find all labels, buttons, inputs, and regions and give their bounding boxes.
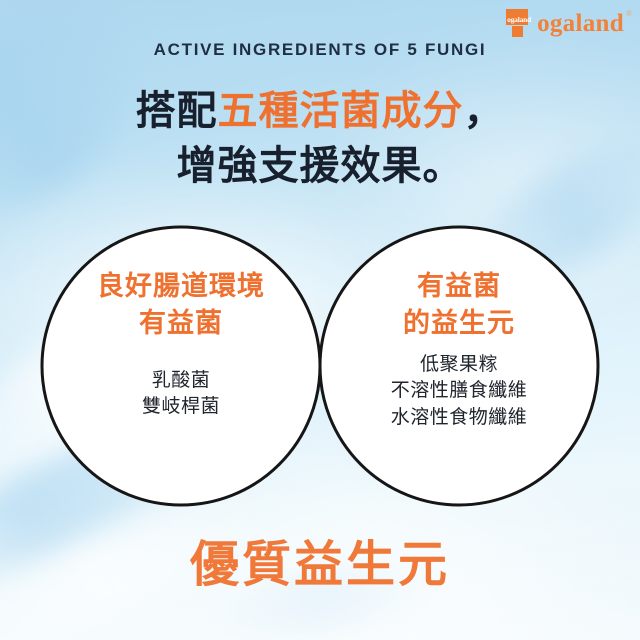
venn-right-body: 低聚果糘 不溶性膳食纖維 水溶性食物纖維 [320,351,598,432]
venn-right-title: 有益菌 的益生元 [320,268,598,343]
venn-right-title-line-1: 有益菌 [320,268,598,305]
infographic-canvas: ogaland ogaland ® ACTIVE INGREDIENTS OF … [0,0,640,640]
footer-headline: 優質益生元 [0,540,640,589]
venn-right-body-line-1: 低聚果糘 [320,351,598,378]
venn-right-title-line-2: 的益生元 [320,305,598,342]
venn-right-body-line-3: 水溶性食物纖維 [320,404,598,431]
venn-left-title: 良好腸道環境 有益菌 [42,268,320,343]
venn-left-body: 乳酸菌 雙岐桿菌 [42,367,320,421]
venn-right-circle-content: 有益菌 的益生元 低聚果糘 不溶性膳食纖維 水溶性食物纖維 [320,268,598,431]
venn-left-body-line-2: 雙岐桿菌 [42,393,320,420]
venn-left-circle-content: 良好腸道環境 有益菌 乳酸菌 雙岐桿菌 [42,268,320,420]
venn-left-title-line-2: 有益菌 [42,305,320,342]
venn-right-body-line-2: 不溶性膳食纖維 [320,377,598,404]
venn-left-title-line-1: 良好腸道環境 [42,268,320,305]
venn-left-body-line-1: 乳酸菌 [42,367,320,394]
